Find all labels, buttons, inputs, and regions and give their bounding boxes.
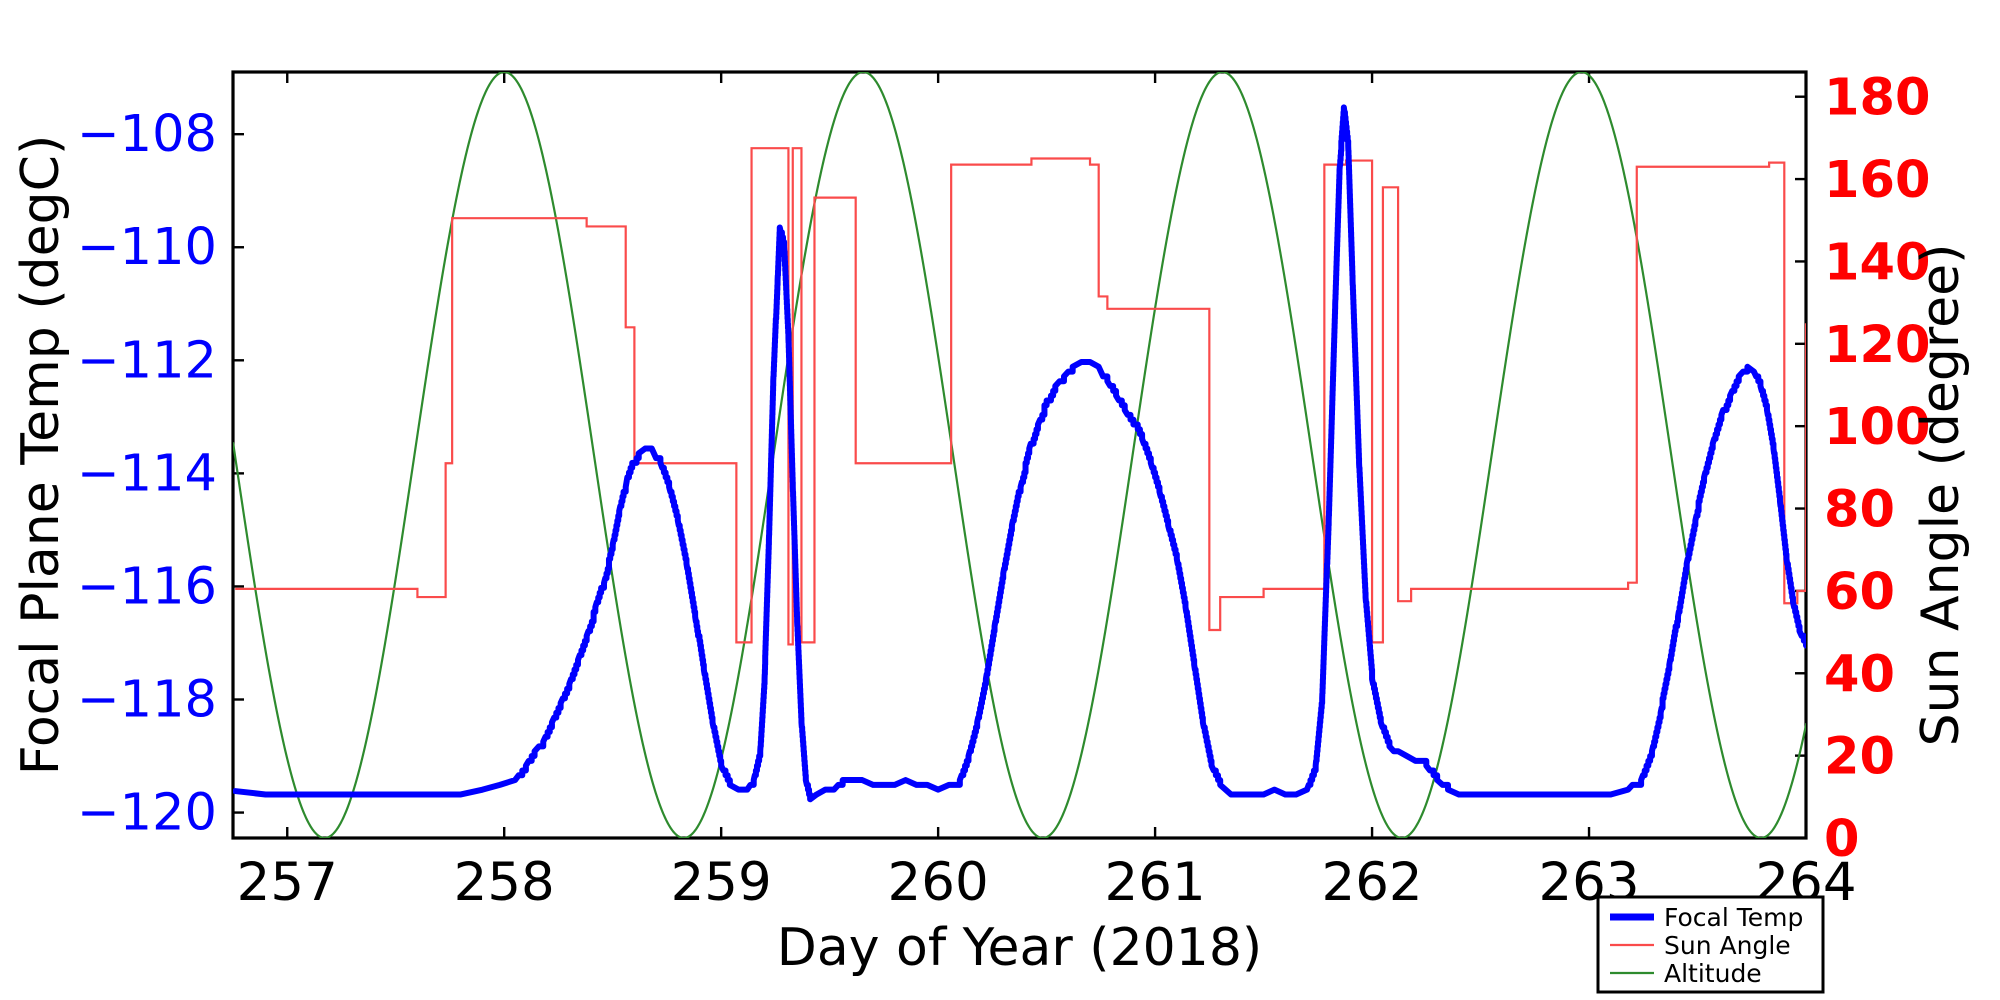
y-tick-label-left: −120	[77, 784, 217, 843]
x-tick-label: 262	[1321, 852, 1422, 913]
figure-canvas: 257258259260261262263264−108−110−112−114…	[0, 0, 2000, 1000]
y-axis-title-right: Sun Angle (degree)	[1911, 244, 1971, 747]
legend-label-1: Sun Angle	[1664, 931, 1791, 960]
plot-frame	[233, 72, 1806, 838]
y-tick-label-right: 160	[1824, 151, 1930, 210]
y-axis-title-left: Focal Plane Temp (degC)	[11, 135, 71, 775]
y-tick-label-left: −118	[77, 670, 217, 729]
y-tick-label-right: 60	[1824, 563, 1895, 622]
y-tick-label-left: −110	[77, 218, 217, 277]
x-tick-label: 261	[1105, 852, 1206, 913]
y-tick-label-left: −112	[77, 331, 217, 390]
x-axis-title: Day of Year (2018)	[777, 918, 1262, 978]
y-tick-label-right: 20	[1824, 728, 1895, 787]
y-tick-label-right: 80	[1824, 481, 1895, 540]
y-tick-label-right: 40	[1824, 645, 1895, 704]
legend-label-0: Focal Temp	[1664, 903, 1803, 932]
y-tick-label-left: −108	[77, 105, 217, 164]
legend-label-2: Altitude	[1664, 959, 1762, 988]
y-tick-label-right: 180	[1824, 69, 1930, 128]
y-tick-label-right: 0	[1824, 810, 1860, 869]
x-tick-label: 259	[671, 852, 772, 913]
x-tick-label: 260	[888, 852, 989, 913]
axes-layer	[233, 72, 1806, 838]
chart-svg: 257258259260261262263264−108−110−112−114…	[0, 0, 2000, 1000]
y-tick-label-left: −116	[77, 557, 217, 616]
x-tick-label: 257	[237, 852, 338, 913]
legend-layer: Focal TempSun AngleAltitude	[1598, 897, 1823, 992]
x-tick-label: 258	[454, 852, 555, 913]
y-tick-label-left: −114	[77, 444, 217, 503]
